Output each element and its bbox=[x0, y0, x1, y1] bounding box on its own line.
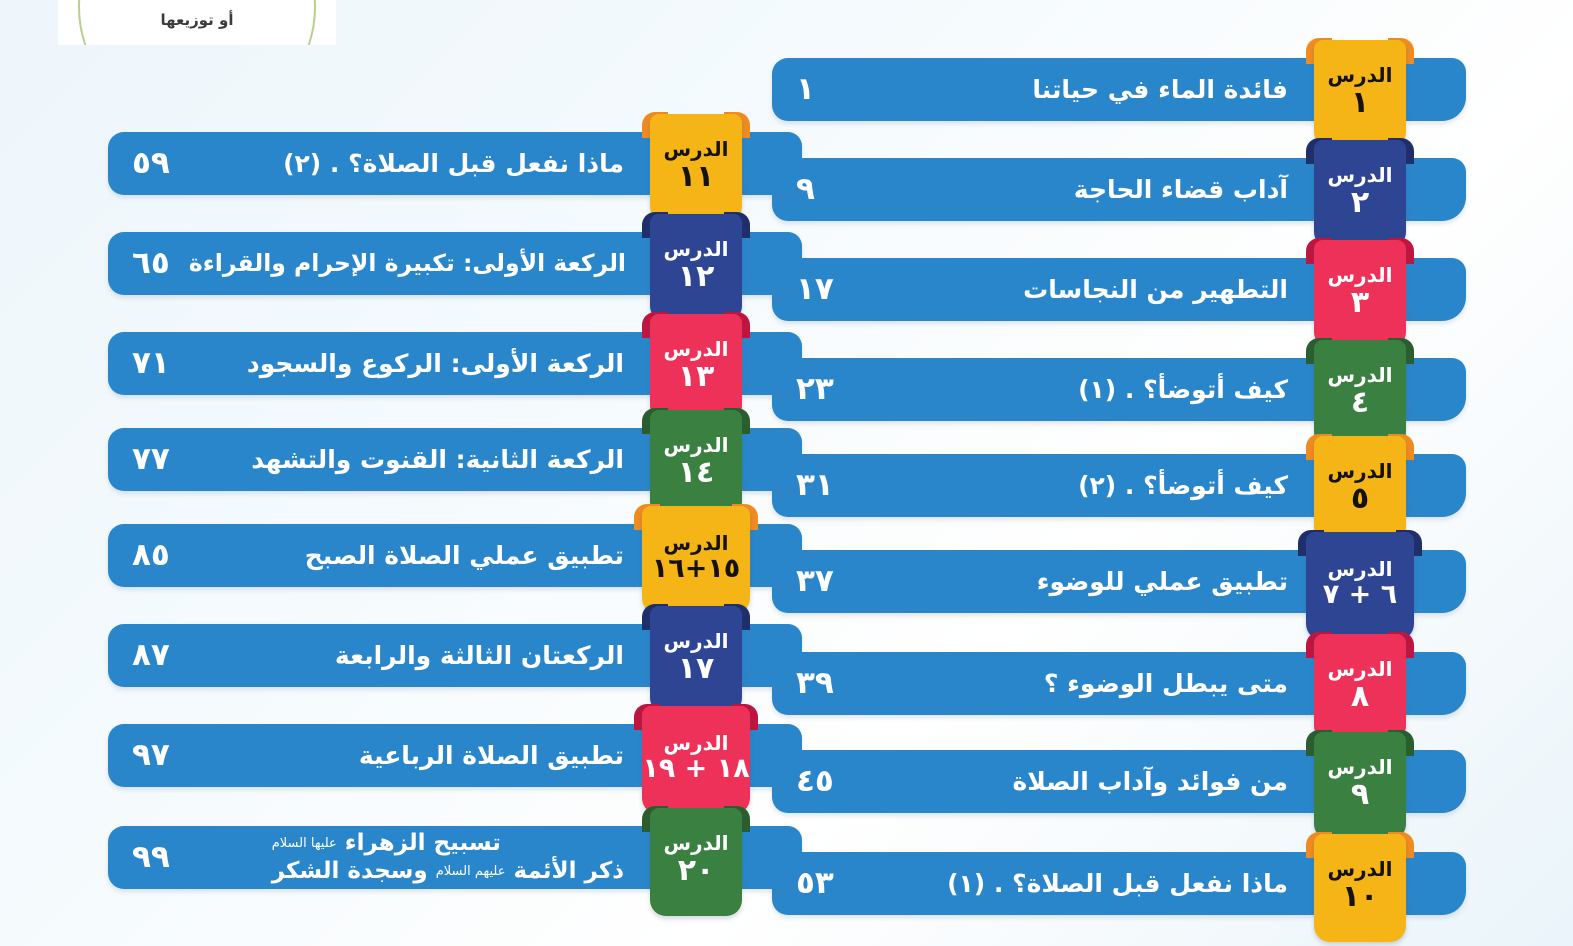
lesson-tab[interactable]: الدرس١٨ + ١٩ bbox=[634, 704, 758, 814]
lesson-tab[interactable]: الدرس٦ + ٧ bbox=[1298, 530, 1422, 640]
lesson-title: تطبيق عملي للوضوء bbox=[1037, 550, 1288, 613]
honorific-icon: عليهم السلام bbox=[436, 863, 506, 878]
toc-row[interactable]: ٣٧تطبيق عملي للوضوءالدرس٦ + ٧ bbox=[772, 530, 1440, 630]
toc-row[interactable]: ٧١الركعة الأولى: الركوع والسجودالدرس١٣ bbox=[108, 312, 776, 412]
tab-word-label: الدرس bbox=[663, 239, 728, 260]
toc-row[interactable]: ٩آداب قضاء الحاجةالدرس٢ bbox=[772, 138, 1440, 238]
tab-word-label: الدرس bbox=[663, 339, 728, 360]
tab-body: الدرس٥ bbox=[1314, 436, 1406, 544]
tab-lesson-number: ١٠ bbox=[1342, 880, 1379, 913]
lesson-title: تسبيح الزهراء عليها السلامذكر الأئمة علي… bbox=[272, 826, 624, 889]
page-number: ٨٧ bbox=[132, 624, 170, 687]
row-bar-stub bbox=[742, 428, 802, 491]
page-number: ٦٥ bbox=[132, 232, 170, 295]
row-bar-stub bbox=[1406, 358, 1466, 421]
lesson-tab[interactable]: الدرس١٤ bbox=[642, 408, 750, 518]
lesson-title: آداب قضاء الحاجة bbox=[1074, 158, 1288, 221]
lesson-title-line-2: ذكر الأئمة عليهم السلام وسجدة الشكر bbox=[272, 858, 624, 885]
toc-row[interactable]: ٧٧الركعة الثانية: القنوت والتشهدالدرس١٤ bbox=[108, 408, 776, 508]
lesson-title: تطبيق عملي الصلاة الصبح bbox=[305, 524, 624, 587]
lesson-title: كيف أتوضأ؟ . (١) bbox=[1078, 358, 1288, 421]
tab-word-label: الدرس bbox=[663, 833, 728, 854]
toc-row[interactable]: ٤٥من فوائد وآداب الصلاةالدرس٩ bbox=[772, 730, 1440, 830]
lesson-tab[interactable]: الدرس١ bbox=[1306, 38, 1414, 148]
tab-lesson-number: ٢٠ bbox=[678, 854, 715, 887]
lesson-title: كيف أتوضأ؟ . (٢) bbox=[1078, 454, 1288, 517]
lesson-tab[interactable]: الدرس١٠ bbox=[1306, 832, 1414, 942]
lesson-title: الركعة الأولى: تكبيرة الإحرام والقراءة bbox=[189, 232, 626, 295]
tab-word-label: الدرس bbox=[1327, 559, 1392, 580]
page-number: ٤٥ bbox=[796, 750, 834, 813]
tab-word-label: الدرس bbox=[1327, 859, 1392, 880]
page-number: ١٧ bbox=[796, 258, 834, 321]
page-number: ٢٣ bbox=[796, 358, 834, 421]
lesson-tab[interactable]: الدرس٥ bbox=[1306, 434, 1414, 544]
lesson-title: الركعتان الثالثة والرابعة bbox=[335, 624, 624, 687]
lesson-tab[interactable]: الدرس١٥+١٦ bbox=[634, 504, 758, 614]
page-number: ٩ bbox=[796, 158, 815, 221]
lesson-title: ماذا نفعل قبل الصلاة؟ . (١) bbox=[947, 852, 1288, 915]
toc-row[interactable]: ٥٣ماذا نفعل قبل الصلاة؟ . (١)الدرس١٠ bbox=[772, 832, 1440, 932]
lesson-tab[interactable]: الدرس١٢ bbox=[642, 212, 750, 322]
row-bar-stub bbox=[1406, 750, 1466, 813]
tab-body: الدرس٣ bbox=[1314, 240, 1406, 348]
tab-lesson-number: ١٥+١٦ bbox=[652, 554, 741, 584]
tab-lesson-number: ٥ bbox=[1351, 482, 1369, 515]
tab-word-label: الدرس bbox=[663, 733, 728, 754]
row-bar-stub bbox=[742, 332, 802, 395]
tab-word-label: الدرس bbox=[1327, 65, 1392, 86]
tab-body: الدرس١٣ bbox=[650, 314, 742, 422]
lesson-tab[interactable]: الدرس١٧ bbox=[642, 604, 750, 714]
tab-lesson-number: ١٧ bbox=[678, 652, 715, 685]
tab-body: الدرس١٢ bbox=[650, 214, 742, 322]
tab-word-label: الدرس bbox=[1327, 757, 1392, 778]
tab-body: الدرس١٤ bbox=[650, 410, 742, 518]
tab-lesson-number: ٨ bbox=[1351, 680, 1369, 713]
tab-word-label: الدرس bbox=[1327, 265, 1392, 286]
tab-word-label: الدرس bbox=[663, 435, 728, 456]
tab-body: الدرس١١ bbox=[650, 114, 742, 222]
toc-row[interactable]: ٨٧الركعتان الثالثة والرابعةالدرس١٧ bbox=[108, 604, 776, 704]
lesson-title: متى يبطل الوضوء ؟ bbox=[1044, 652, 1288, 715]
tab-word-label: الدرس bbox=[1327, 659, 1392, 680]
lesson-title: من فوائد وآداب الصلاة bbox=[1013, 750, 1289, 813]
lesson-title: الركعة الثانية: القنوت والتشهد bbox=[251, 428, 624, 491]
toc-row[interactable]: ٩٩تسبيح الزهراء عليها السلامذكر الأئمة ع… bbox=[108, 806, 776, 906]
tab-body: الدرس١ bbox=[1314, 40, 1406, 148]
tab-word-label: الدرس bbox=[1327, 461, 1392, 482]
row-bar-stub bbox=[1406, 852, 1466, 915]
lesson-title: ماذا نفعل قبل الصلاة؟ . (٢) bbox=[283, 132, 624, 195]
lesson-title: تطبيق الصلاة الرباعية bbox=[359, 724, 624, 787]
page-number: ٩٧ bbox=[132, 724, 170, 787]
tab-body: الدرس١٥+١٦ bbox=[642, 506, 750, 614]
tab-body: الدرس١٨ + ١٩ bbox=[642, 706, 750, 814]
page-number: ٧٧ bbox=[132, 428, 170, 491]
page-number: ٨٥ bbox=[132, 524, 170, 587]
toc-row[interactable]: ٦٥الركعة الأولى: تكبيرة الإحرام والقراءة… bbox=[108, 212, 776, 312]
tab-word-label: الدرس bbox=[663, 533, 728, 554]
tab-lesson-number: ١٢ bbox=[678, 260, 715, 293]
tab-body: الدرس٢٠ bbox=[650, 808, 742, 916]
corner-card-text: أو توزيعها bbox=[58, 11, 336, 29]
tab-lesson-number: ٩ bbox=[1351, 778, 1369, 811]
tab-body: الدرس٨ bbox=[1314, 634, 1406, 742]
lesson-title-line-1: تسبيح الزهراء عليها السلام bbox=[272, 830, 501, 857]
tab-lesson-number: ٦ + ٧ bbox=[1323, 580, 1397, 610]
page-number: ٧١ bbox=[132, 332, 170, 395]
page-number: ٩٩ bbox=[132, 826, 170, 889]
lesson-tab[interactable]: الدرس١٣ bbox=[642, 312, 750, 422]
tab-lesson-number: ١٣ bbox=[678, 360, 715, 393]
toc-row[interactable]: ٢٣كيف أتوضأ؟ . (١)الدرس٤ bbox=[772, 338, 1440, 438]
tab-body: الدرس٩ bbox=[1314, 732, 1406, 840]
toc-row[interactable]: ١٧التطهير من النجاساتالدرس٣ bbox=[772, 238, 1440, 338]
tab-word-label: الدرس bbox=[663, 631, 728, 652]
page-number: ٣٧ bbox=[796, 550, 834, 613]
lesson-tab[interactable]: الدرس٢ bbox=[1306, 138, 1414, 248]
tab-lesson-number: ١٤ bbox=[678, 456, 715, 489]
toc-row[interactable]: ٣٩متى يبطل الوضوء ؟الدرس٨ bbox=[772, 632, 1440, 732]
lesson-tab[interactable]: الدرس٨ bbox=[1306, 632, 1414, 742]
lesson-tab[interactable]: الدرس٤ bbox=[1306, 338, 1414, 448]
toc-row[interactable]: ٥٩ماذا نفعل قبل الصلاة؟ . (٢)الدرس١١ bbox=[108, 112, 776, 212]
tab-lesson-number: ١٨ + ١٩ bbox=[642, 754, 749, 784]
lesson-tab[interactable]: الدرس٣ bbox=[1306, 238, 1414, 348]
tab-word-label: الدرس bbox=[1327, 165, 1392, 186]
lesson-title: فائدة الماء في حياتنا bbox=[1032, 58, 1288, 121]
row-bar-stub bbox=[1406, 258, 1466, 321]
tab-lesson-number: ١ bbox=[1351, 86, 1369, 119]
tab-lesson-number: ٣ bbox=[1351, 286, 1369, 319]
lesson-tab[interactable]: الدرس٩ bbox=[1306, 730, 1414, 840]
page-number: ٥٩ bbox=[132, 132, 170, 195]
tab-lesson-number: ٢ bbox=[1351, 186, 1369, 219]
page-number: ٣٩ bbox=[796, 652, 834, 715]
toc-page: أو توزيعها ١فائدة الماء في حياتناالدرس١٩… bbox=[0, 0, 1573, 946]
page-number: ٣١ bbox=[796, 454, 834, 517]
tab-body: الدرس٦ + ٧ bbox=[1306, 532, 1414, 640]
honorific-icon: عليها السلام bbox=[272, 836, 337, 851]
page-number: ١ bbox=[796, 58, 815, 121]
row-bar-stub bbox=[742, 232, 802, 295]
toc-row[interactable]: ٣١كيف أتوضأ؟ . (٢)الدرس٥ bbox=[772, 434, 1440, 534]
lesson-tab[interactable]: الدرس٢٠ bbox=[642, 806, 750, 916]
lesson-title: الركعة الأولى: الركوع والسجود bbox=[247, 332, 624, 395]
tab-word-label: الدرس bbox=[663, 139, 728, 160]
row-bar-stub bbox=[742, 132, 802, 195]
tab-body: الدرس٤ bbox=[1314, 340, 1406, 448]
toc-row[interactable]: ١فائدة الماء في حياتناالدرس١ bbox=[772, 38, 1440, 138]
lesson-tab[interactable]: الدرس١١ bbox=[642, 112, 750, 222]
row-bar-stub bbox=[1406, 652, 1466, 715]
tab-body: الدرس١٧ bbox=[650, 606, 742, 714]
row-bar-stub bbox=[742, 624, 802, 687]
toc-row[interactable]: ٨٥تطبيق عملي الصلاة الصبحالدرس١٥+١٦ bbox=[108, 504, 776, 604]
row-bar-stub bbox=[1406, 58, 1466, 121]
toc-row[interactable]: ٩٧تطبيق الصلاة الرباعيةالدرس١٨ + ١٩ bbox=[108, 704, 776, 804]
tab-body: الدرس٢ bbox=[1314, 140, 1406, 248]
row-bar-stub bbox=[1406, 454, 1466, 517]
tab-lesson-number: ١١ bbox=[678, 160, 715, 193]
row-bar-stub bbox=[742, 826, 802, 889]
tab-lesson-number: ٤ bbox=[1351, 386, 1369, 419]
cropped-corner-card: أو توزيعها bbox=[58, 0, 336, 45]
lesson-title: التطهير من النجاسات bbox=[1023, 258, 1288, 321]
tab-body: الدرس١٠ bbox=[1314, 834, 1406, 942]
tab-word-label: الدرس bbox=[1327, 365, 1392, 386]
page-number: ٥٣ bbox=[796, 852, 834, 915]
row-bar-stub bbox=[1406, 158, 1466, 221]
